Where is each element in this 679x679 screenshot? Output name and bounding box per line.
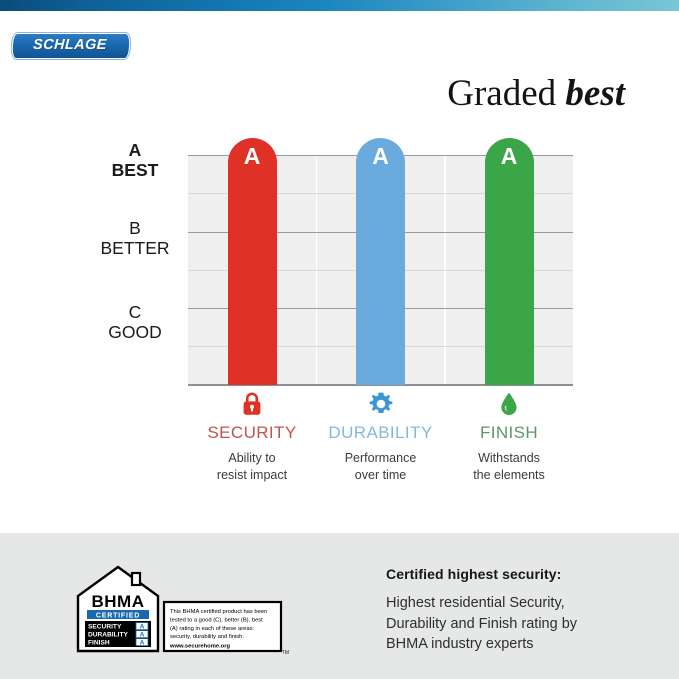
category-desc-finish: Withstands the elements	[445, 450, 573, 483]
axis-word-best: BEST	[88, 161, 182, 181]
axis-grade-b: B	[88, 219, 182, 239]
category-durability[interactable]: DURABILITY Performance over time	[317, 390, 445, 483]
svg-text:A: A	[140, 624, 145, 631]
axis-row-best: A BEST	[88, 141, 182, 180]
svg-text:A: A	[140, 640, 145, 647]
schlage-logo[interactable]: SCHLAGE	[12, 33, 128, 57]
category-desc-finish-line2: the elements	[473, 468, 545, 482]
axis-row-better: B BETTER	[88, 219, 182, 258]
svg-text:CERTIFIED: CERTIFIED	[96, 612, 140, 619]
bar-security[interactable]: A	[228, 138, 277, 385]
category-desc-finish-line1: Withstands	[478, 451, 540, 465]
svg-text:DURABILITY: DURABILITY	[88, 632, 129, 639]
category-name-security: SECURITY	[188, 423, 316, 443]
category-desc-durability: Performance over time	[317, 450, 445, 483]
footer-title: Certified highest security:	[386, 566, 656, 582]
category-desc-security-line1: Ability to	[228, 451, 275, 465]
category-finish[interactable]: FINISH Withstands the elements	[445, 390, 573, 483]
footer-body-line1: Highest residential Security,	[386, 595, 565, 611]
bar-grade-durability: A	[356, 143, 405, 170]
padlock-icon	[188, 390, 316, 418]
svg-text:security, durability and finis: security, durability and finish.	[170, 634, 244, 640]
svg-text:BHMA: BHMA	[92, 592, 145, 611]
gear-icon	[317, 390, 445, 418]
category-desc-security-line2: resist impact	[217, 468, 287, 482]
svg-text:A: A	[140, 632, 145, 639]
grade-bar-chart: A A A	[188, 155, 573, 385]
category-name-durability: DURABILITY	[317, 423, 445, 443]
category-desc-durability-line2: over time	[355, 468, 406, 482]
logo-text: SCHLAGE	[11, 33, 128, 57]
footer-band: BHMA CERTIFIED SECURITY DURABILITY FINIS…	[0, 533, 679, 679]
headline-emphasis: best	[565, 73, 625, 114]
footer-body-line2: Durability and Finish rating by	[386, 616, 577, 632]
bar-finish[interactable]: A	[485, 138, 534, 385]
axis-grade-a: A	[88, 141, 182, 161]
svg-text:(A) rating in each of these ar: (A) rating in each of these areas:	[170, 626, 254, 632]
bar-durability[interactable]: A	[356, 138, 405, 385]
bar-grade-security: A	[228, 143, 277, 170]
category-desc-durability-line1: Performance	[345, 451, 417, 465]
svg-text:www.securehome.org: www.securehome.org	[169, 643, 230, 649]
footer-body-line3: BHMA industry experts	[386, 636, 533, 652]
axis-word-good: GOOD	[88, 323, 182, 343]
footer-body: Highest residential Security, Durability…	[386, 593, 656, 655]
category-security[interactable]: SECURITY Ability to resist impact	[188, 390, 316, 483]
svg-text:SECURITY: SECURITY	[88, 624, 122, 631]
grade-axis-labels: A BEST B BETTER C GOOD	[88, 137, 182, 387]
bar-grade-finish: A	[485, 143, 534, 170]
headline-regular: Graded	[447, 73, 565, 114]
svg-text:This BHMA certified product ha: This BHMA certified product has been	[170, 609, 267, 615]
svg-text:FINISH: FINISH	[88, 640, 110, 647]
category-desc-security: Ability to resist impact	[188, 450, 316, 483]
svg-text:tested to a good (C), better (: tested to a good (C), better (B), best	[170, 617, 263, 623]
top-gradient-bar	[0, 0, 679, 11]
page-title: Graded best	[447, 72, 625, 115]
footer-text-block: Certified highest security: Highest resi…	[386, 566, 656, 655]
axis-row-good: C GOOD	[88, 303, 182, 342]
badge-trademark: TM	[282, 650, 289, 656]
bhma-certified-badge: BHMA CERTIFIED SECURITY DURABILITY FINIS…	[72, 563, 287, 655]
category-legend: SECURITY Ability to resist impact DURABI…	[188, 390, 573, 485]
droplet-icon	[445, 390, 573, 418]
axis-word-better: BETTER	[88, 239, 182, 259]
category-name-finish: FINISH	[445, 423, 573, 443]
axis-grade-c: C	[88, 303, 182, 323]
